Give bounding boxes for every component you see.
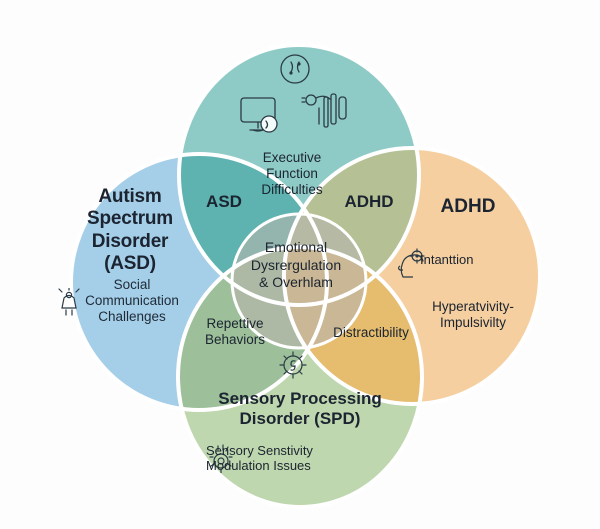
monitor-icon bbox=[238, 95, 290, 141]
venn-diagram-canvas: Autism Spectrum Disorder (ASD) Social Co… bbox=[0, 0, 600, 529]
overlap-label-asd: ASD bbox=[186, 192, 262, 212]
adhd-circle-title: ADHD bbox=[398, 196, 538, 218]
adhd-inattention-label: Intanttion bbox=[420, 252, 540, 267]
overlap-label-repetitive-behaviors: Repettive Behaviors bbox=[183, 316, 287, 348]
center-overlap-label: Emotional Dysrergulation & Overhlam bbox=[232, 239, 360, 292]
clock-face-icon bbox=[278, 52, 312, 86]
overlap-label-adhd: ADHD bbox=[326, 192, 412, 212]
spd-circle-title: Sensory Processing Disorder (SPD) bbox=[185, 389, 415, 429]
executive-function-label: Executive Function Difficulties bbox=[232, 150, 352, 198]
spd-circle-subtitle: Sensory Senstivity Modulation Issues bbox=[206, 443, 406, 474]
sun-gear-icon bbox=[276, 348, 310, 382]
devices-icon bbox=[300, 88, 350, 134]
overlap-label-distractibility: Distractibility bbox=[316, 325, 426, 341]
